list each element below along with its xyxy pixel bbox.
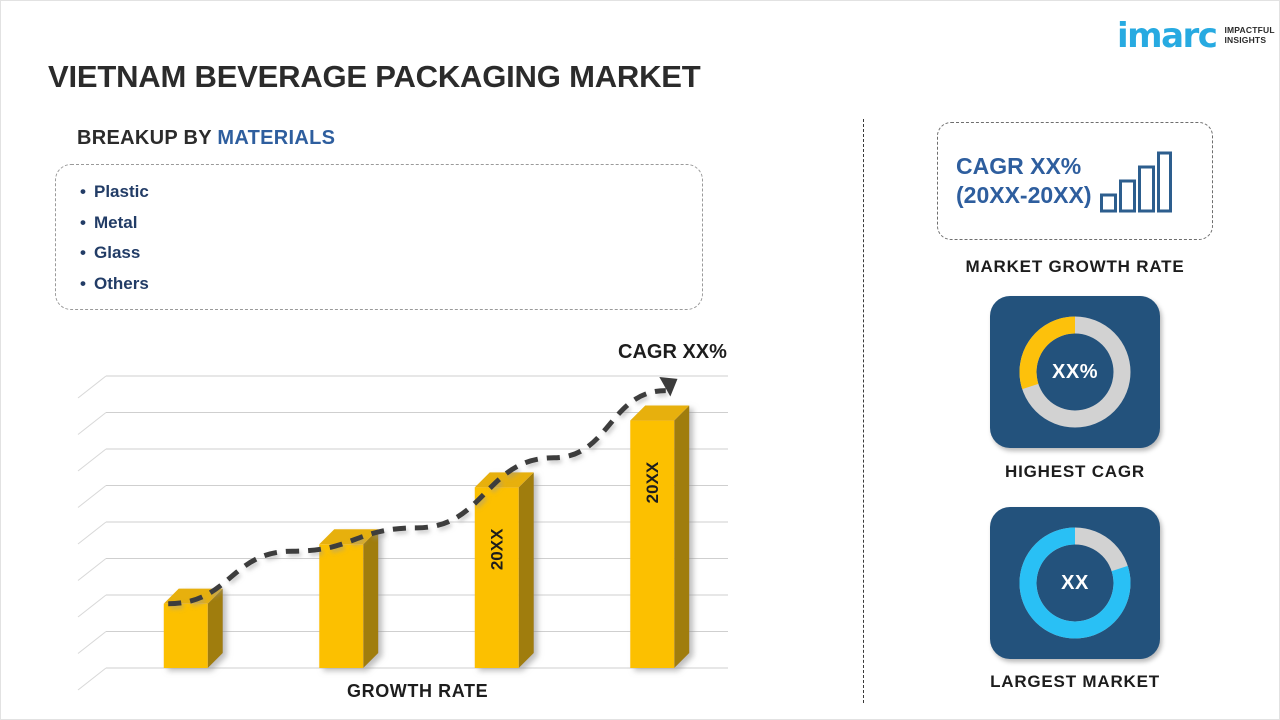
materials-list-box: •Plastic •Metal •Glass •Others (55, 164, 703, 310)
largest-market-caption: LARGEST MARKET (937, 672, 1213, 692)
breakup-heading-accent: MATERIALS (217, 127, 335, 149)
chart-trendline (168, 377, 677, 604)
breakup-heading-prefix: BREAKUP BY (77, 127, 217, 149)
material-label: Metal (94, 213, 137, 232)
logo-tagline-line2: INSIGHTS (1224, 36, 1274, 46)
bar (319, 529, 378, 668)
cagr-annotation: CAGR XX% (618, 341, 727, 364)
bullet-icon: • (80, 238, 94, 269)
bullet-icon: • (80, 269, 94, 300)
breakup-heading: BREAKUP BY MATERIALS (77, 127, 335, 150)
trend-arrowhead (659, 377, 677, 397)
bar-value-label: 20XX (488, 528, 507, 570)
bar-chart-svg: 20XX20XX (61, 331, 801, 701)
cagr-line-1: CAGR XX% (956, 152, 1092, 181)
bullet-icon: • (80, 208, 94, 239)
highest-cagr-value: XX% (1052, 361, 1098, 384)
material-label: Plastic (94, 182, 149, 201)
largest-market-value: XX (1061, 572, 1089, 595)
largest-market-card: XX (990, 507, 1160, 659)
logo-tagline: IMPACTFUL INSIGHTS (1224, 26, 1274, 45)
growth-rate-bar-chart: 20XX20XX (61, 331, 801, 701)
chart-x-axis-label: GROWTH RATE (347, 681, 488, 702)
list-item: •Others (80, 269, 702, 300)
cagr-value-text: CAGR XX% (20XX-20XX) (956, 152, 1092, 210)
highest-cagr-card: XX% (990, 296, 1160, 448)
material-label: Glass (94, 243, 140, 262)
imarc-logo: imarc IMPACTFUL INSIGHTS (1117, 17, 1267, 55)
bar (630, 406, 689, 668)
panel-divider (863, 119, 864, 703)
material-label: Others (94, 274, 149, 293)
bar-value-label: 20XX (643, 461, 662, 503)
list-item: •Plastic (80, 177, 702, 208)
market-growth-rate-caption: MARKET GROWTH RATE (937, 257, 1213, 277)
cagr-line-2: (20XX-20XX) (956, 181, 1092, 210)
trend-line (168, 391, 666, 604)
list-item: •Metal (80, 208, 702, 239)
market-growth-rate-box: CAGR XX% (20XX-20XX) (937, 122, 1213, 240)
infographic-page: imarc IMPACTFUL INSIGHTS VIETNAM BEVERAG… (0, 0, 1280, 720)
list-item: •Glass (80, 238, 702, 269)
page-title: VIETNAM BEVERAGE PACKAGING MARKET (48, 59, 700, 95)
highest-cagr-caption: HIGHEST CAGR (937, 462, 1213, 482)
bar-chart-icon (1100, 151, 1172, 218)
bullet-icon: • (80, 177, 94, 208)
chart-bars: 20XX20XX (164, 406, 690, 668)
logo-wordmark: imarc (1117, 19, 1216, 53)
